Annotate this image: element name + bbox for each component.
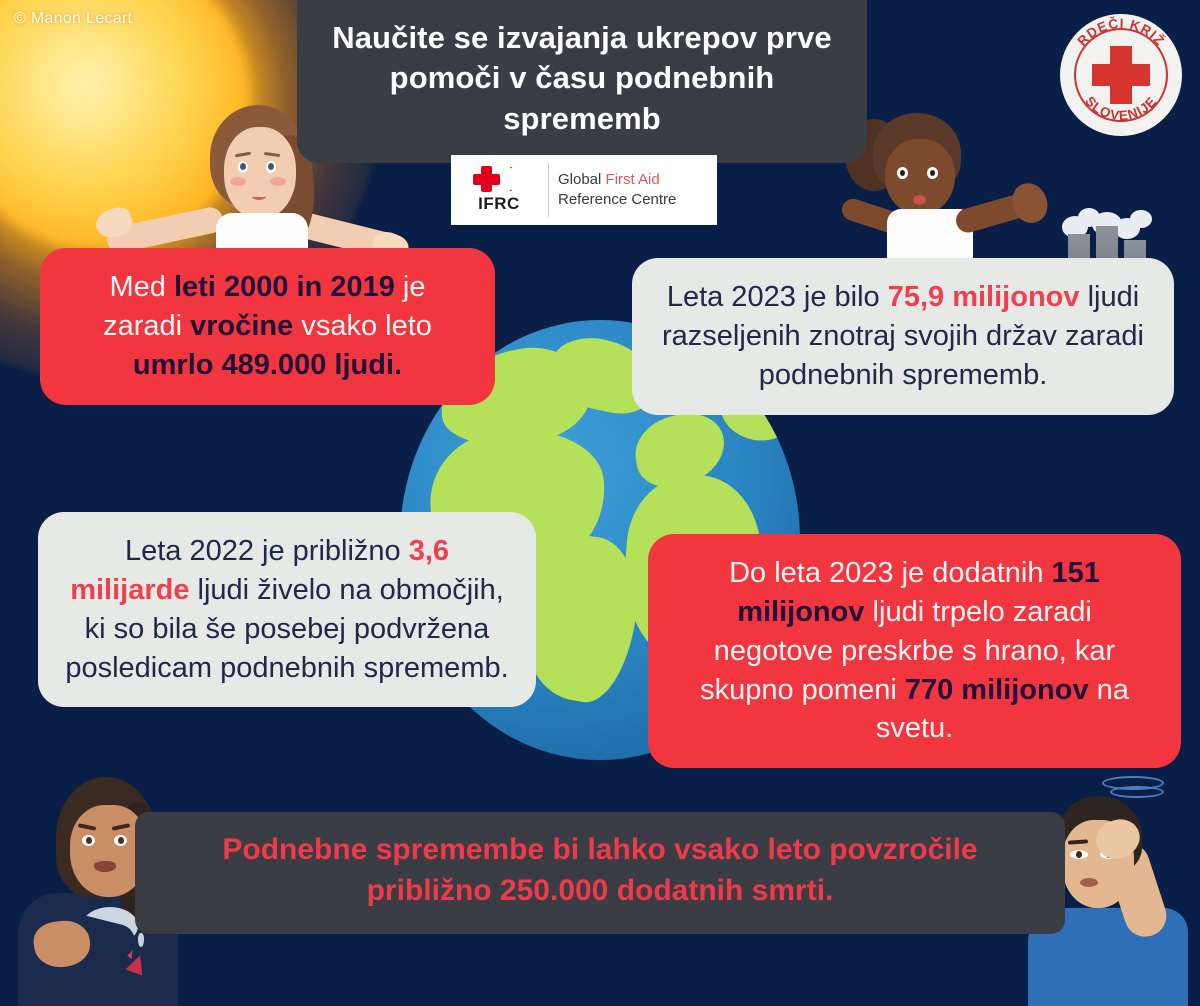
- rks-logo-text: RDEČI KRIŽ SLOVENIJE: [1060, 14, 1182, 136]
- stat-highlight: 75,9 milijonov: [888, 281, 1080, 313]
- credit-text: © Manon Lecart: [14, 10, 132, 28]
- stat-plain: Do leta 2023 je dodatnih: [729, 557, 1051, 589]
- stat-card-displaced-people: Leta 2023 je bilo 75,9 milijonov ljudi r…: [632, 258, 1174, 415]
- stat-highlight: vročine: [190, 310, 293, 342]
- bottom-banner-text: Podnebne spremembe bi lahko vsako leto p…: [165, 830, 1035, 912]
- stat-plain: Leta 2023 je bilo: [667, 281, 888, 313]
- stat-text: Leta 2023 je bilo 75,9 milijonov ljudi r…: [658, 278, 1148, 395]
- bottom-banner: Podnebne spremembe bi lahko vsako leto p…: [135, 812, 1065, 934]
- stat-plain: vsako leto: [293, 310, 432, 342]
- rks-bottom-text: SLOVENIJE: [1082, 93, 1160, 123]
- ifrc-logo-text: Global First Aid Reference Centre: [558, 170, 709, 211]
- ifrc-line1-plain: Global: [558, 171, 606, 188]
- stat-plain: Med: [110, 271, 174, 303]
- stat-card-food-insecurity: Do leta 2023 je dodatnih 151 milijonov l…: [648, 534, 1181, 768]
- rdeci-kriz-slovenije-logo: RDEČI KRIŽ SLOVENIJE: [1060, 14, 1182, 136]
- ifrc-logo: IFRC Global First Aid Reference Centre: [451, 155, 717, 225]
- page-title: Naučite se izvajanja ukrepov prve pomoči…: [323, 18, 841, 139]
- stat-highlight: umrlo 489.000 ljudi.: [133, 349, 402, 381]
- stat-text: Leta 2022 je približno 3,6 milijarde lju…: [64, 532, 510, 687]
- ifrc-emblem-block: IFRC: [459, 166, 539, 214]
- ifrc-abbreviation: IFRC: [478, 194, 520, 214]
- rks-top-text: RDEČI KRIŽ: [1074, 16, 1167, 49]
- ifrc-line1-accent: First Aid: [606, 171, 660, 188]
- stat-highlight: 770 milijonov: [905, 674, 1089, 706]
- logo-divider: [548, 163, 549, 217]
- stat-plain: Leta 2022 je približno: [125, 535, 409, 567]
- red-cross-emblem-icon: [468, 166, 530, 192]
- title-banner: Naučite se izvajanja ukrepov prve pomoči…: [297, 0, 867, 163]
- stat-card-heat-deaths: Med leti 2000 in 2019 je zaradi vročine …: [40, 248, 495, 405]
- child-illustration: [835, 105, 1060, 265]
- stat-text: Med leti 2000 in 2019 je zaradi vročine …: [66, 268, 469, 385]
- ifrc-line2: Reference Centre: [558, 190, 709, 210]
- stat-card-vulnerable-areas: Leta 2022 je približno 3,6 milijarde lju…: [38, 512, 536, 707]
- stat-text: Do leta 2023 je dodatnih 151 milijonov l…: [674, 554, 1155, 748]
- stat-highlight: leti 2000 in 2019: [174, 271, 395, 303]
- red-crescent-emblem-icon: [504, 167, 528, 191]
- infographic-poster: © Manon Lecart: [0, 0, 1200, 1006]
